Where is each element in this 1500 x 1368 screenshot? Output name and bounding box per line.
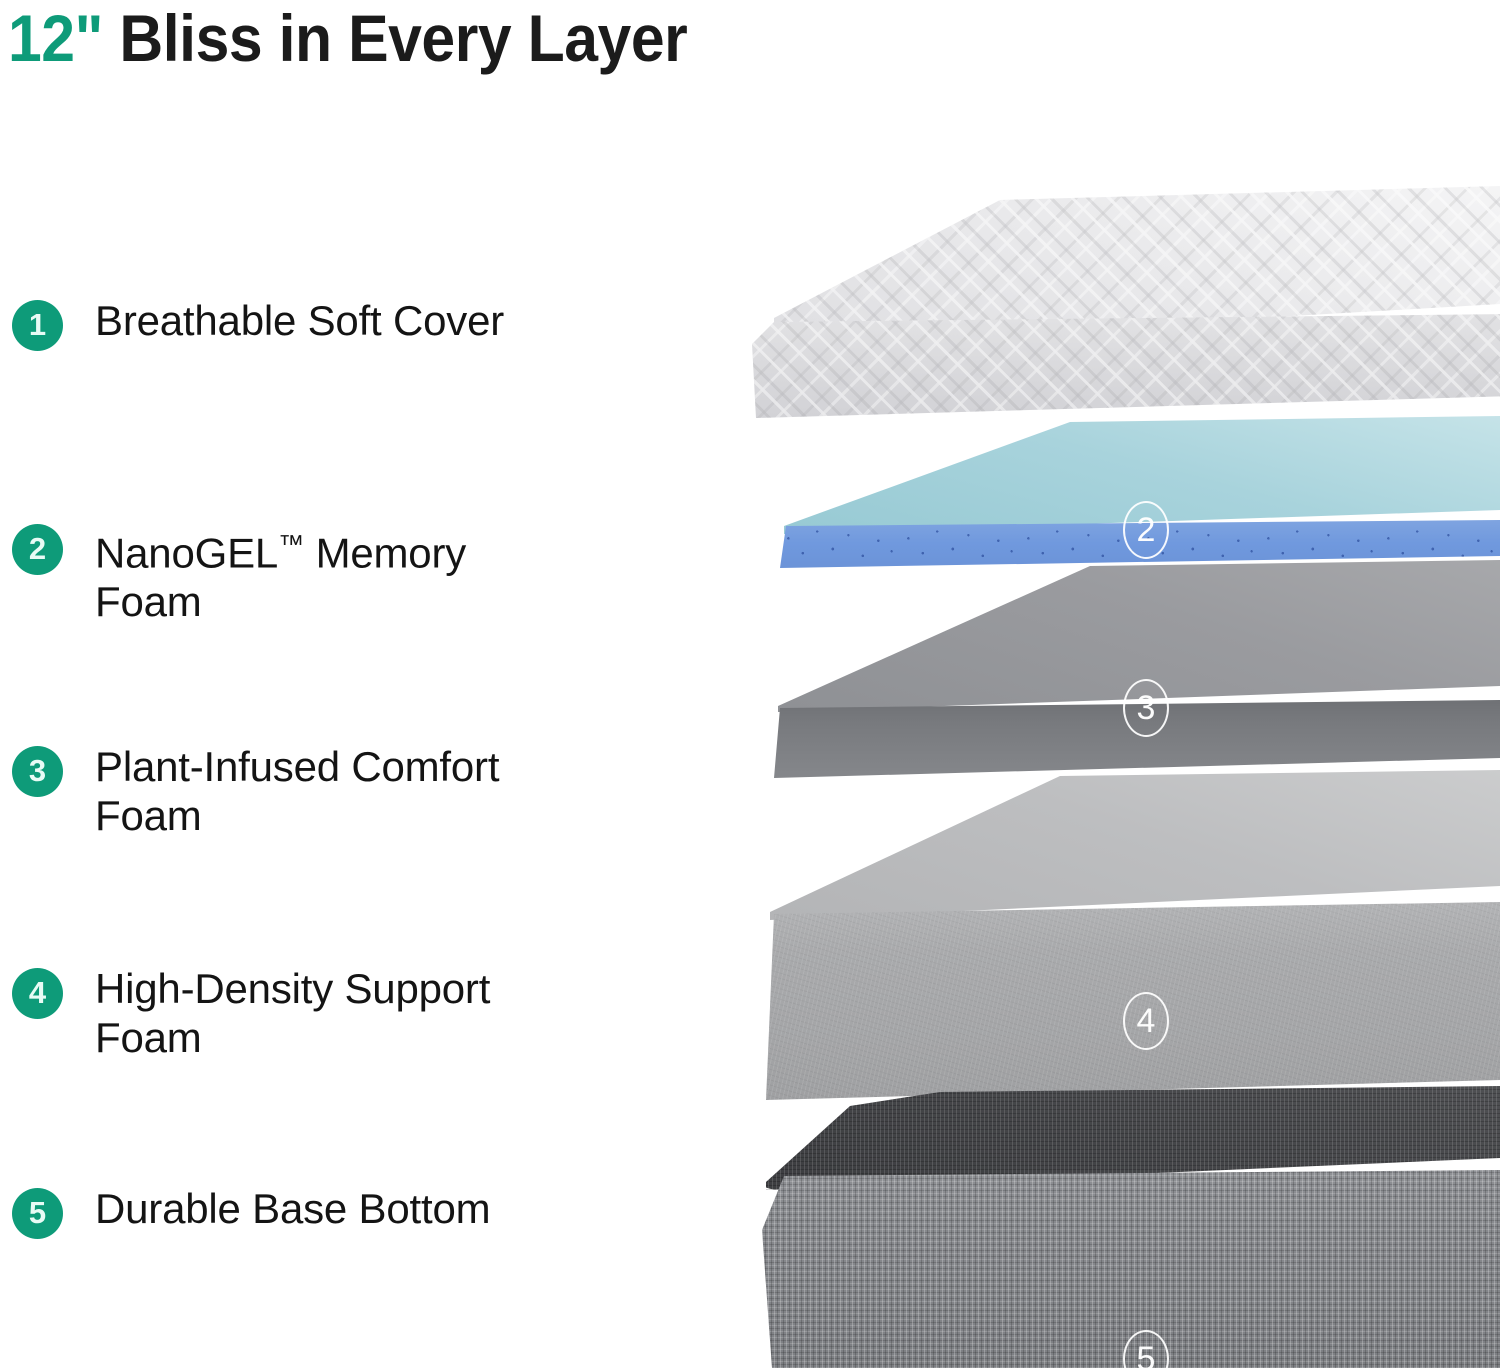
legend-item-4: 4 High-Density Support Foam: [12, 964, 652, 1062]
legend-badge-number-2: 2: [12, 524, 63, 575]
diagram-marker-3: 3: [1123, 679, 1169, 737]
legend-badge-5: 5: [12, 1188, 63, 1239]
diagram-layer-base-bottom: 5: [740, 1086, 1500, 1368]
cover-front-face: [752, 314, 1500, 418]
mattress-layer-diagram: 1 2 3 4: [740, 0, 1500, 1368]
legend-badge-number-3: 3: [12, 746, 63, 797]
legend-label-4: High-Density Support Foam: [95, 964, 565, 1062]
legend-item-3: 3 Plant-Infused Comfort Foam: [12, 742, 652, 840]
gel-foam-top-face: [740, 416, 1500, 534]
legend-label-2: NanoGEL™ Memory Foam: [95, 520, 565, 626]
legend-badge-3: 3: [12, 746, 63, 797]
legend-badge-1: 1: [12, 300, 63, 351]
legend-item-5: 5 Durable Base Bottom: [12, 1184, 652, 1239]
infographic-canvas: 12" Bliss in Every Layer 1 Breathable So…: [0, 0, 1500, 1368]
legend-item-1: 1 Breathable Soft Cover: [12, 296, 652, 351]
diagram-marker-2: 2: [1123, 501, 1169, 559]
layer-legend: 1 Breathable Soft Cover 2 NanoGEL™ Memor…: [0, 0, 700, 1368]
legend-label-5: Durable Base Bottom: [95, 1184, 490, 1233]
legend-badge-number-5: 5: [12, 1188, 63, 1239]
legend-label-2-base: NanoGEL: [95, 529, 278, 576]
quilt-pattern-texture-front: [752, 314, 1500, 418]
legend-badge-2: 2: [12, 524, 63, 575]
diagram-layer-cover: 1: [740, 186, 1500, 416]
diagram-layer-support-foam: 4: [740, 770, 1500, 1100]
trademark-symbol: ™: [278, 529, 304, 559]
support-foam-top-face: [740, 770, 1500, 920]
legend-item-2: 2 NanoGEL™ Memory Foam: [12, 520, 652, 626]
comfort-foam-top-face: [740, 560, 1500, 712]
legend-badge-4: 4: [12, 968, 63, 1019]
legend-badge-number-4: 4: [12, 968, 63, 1019]
legend-badge-number-1: 1: [12, 300, 63, 351]
legend-label-1: Breathable Soft Cover: [95, 296, 504, 345]
diagram-layer-gel-foam: 2: [740, 416, 1500, 568]
legend-label-3: Plant-Infused Comfort Foam: [95, 742, 565, 840]
diagram-layer-comfort-foam: 3: [740, 560, 1500, 782]
diagram-marker-4: 4: [1123, 992, 1169, 1050]
